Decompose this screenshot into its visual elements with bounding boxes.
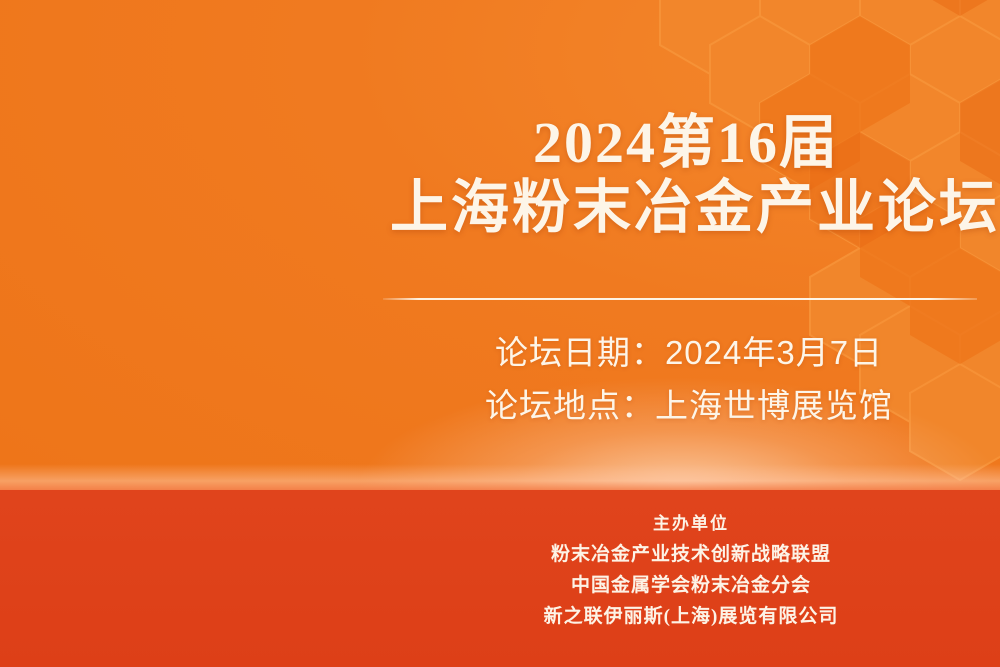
title-divider: [383, 298, 977, 300]
organizer-item: 中国金属学会粉末冶金分会: [382, 571, 1000, 602]
poster-title: 2024第16届 上海粉末冶金产业论坛: [390, 112, 982, 239]
title-line-2: 上海粉末冶金产业论坛: [390, 177, 982, 238]
organizer-section: 主办单位 粉末冶金产业技术创新战略联盟 中国金属学会粉末冶金分会 新之联伊丽斯(…: [382, 508, 1000, 633]
title-line-1: 2024第16届: [390, 112, 982, 173]
poster-canvas: 工艺控制要点：间隙控制: [0, 0, 1000, 667]
organizer-heading: 主办单位: [382, 508, 1000, 540]
organizer-item: 新之联伊丽斯(上海)展览有限公司: [382, 602, 1000, 633]
event-venue: 论坛地点：上海世博展览馆: [392, 379, 986, 432]
event-date: 论坛日期：2024年3月7日: [392, 326, 986, 379]
event-meta: 论坛日期：2024年3月7日 论坛地点：上海世博展览馆: [392, 326, 986, 433]
organizer-item: 粉末冶金产业技术创新战略联盟: [382, 540, 1000, 571]
poster-content: 2024第16届 上海粉末冶金产业论坛 论坛日期：2024年3月7日 论坛地点：…: [382, 0, 1000, 667]
